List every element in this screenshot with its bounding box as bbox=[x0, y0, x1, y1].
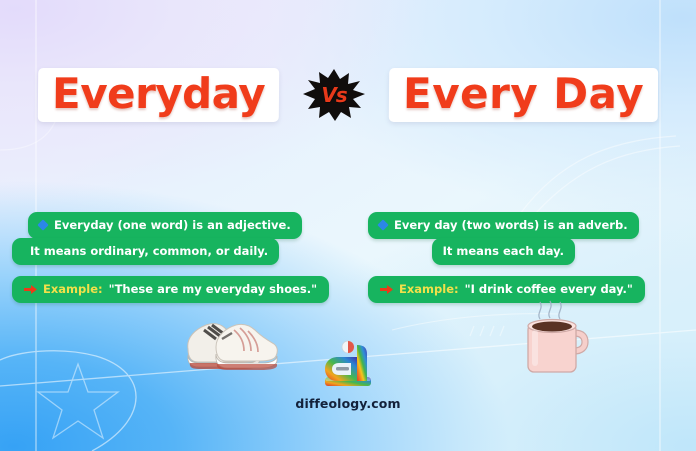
definition-line-1-right: Every day (two words) is an adverb. bbox=[368, 212, 639, 239]
rainbow-d-logo-icon bbox=[317, 337, 379, 391]
right-arrow-icon bbox=[24, 284, 37, 295]
diamond-bullet-icon bbox=[37, 219, 48, 230]
title-row: Everyday Vs Every Day bbox=[0, 52, 696, 138]
diamond-bullet-icon bbox=[377, 219, 388, 230]
example-label-right: Example: bbox=[399, 283, 459, 295]
example-label-left: Example: bbox=[43, 283, 103, 295]
vs-badge: Vs bbox=[301, 67, 367, 123]
definition-block-left: Everyday (one word) is an adjective. It … bbox=[28, 212, 302, 265]
right-arrow-icon bbox=[380, 284, 393, 295]
site-logo[interactable]: diffeology.com bbox=[0, 337, 696, 411]
infographic-canvas: Everyday Vs Every Day Everyday (one word… bbox=[0, 0, 696, 451]
definition-line-2-right: It means each day. bbox=[432, 238, 575, 265]
site-name: diffeology.com bbox=[295, 396, 400, 411]
title-left: Everyday bbox=[38, 68, 280, 122]
definition-text-1-left: Everyday (one word) is an adjective. bbox=[54, 219, 291, 231]
definition-text-2-left: It means ordinary, common, or daily. bbox=[30, 245, 268, 257]
example-text-right: "I drink coffee every day." bbox=[465, 283, 633, 295]
definition-text-2-right: It means each day. bbox=[443, 245, 564, 257]
example-line-left: Example: "These are my everyday shoes." bbox=[12, 276, 329, 303]
vs-label: Vs bbox=[321, 83, 346, 107]
definition-text-1-right: Every day (two words) is an adverb. bbox=[394, 219, 628, 231]
example-line-right: Example: "I drink coffee every day." bbox=[368, 276, 645, 303]
example-text-left: "These are my everyday shoes." bbox=[109, 283, 318, 295]
definition-line-2-left: It means ordinary, common, or daily. bbox=[12, 238, 279, 265]
definition-line-1-left: Everyday (one word) is an adjective. bbox=[28, 212, 302, 239]
title-right: Every Day bbox=[389, 68, 659, 122]
definition-block-right: Every day (two words) is an adverb. It m… bbox=[368, 212, 639, 265]
